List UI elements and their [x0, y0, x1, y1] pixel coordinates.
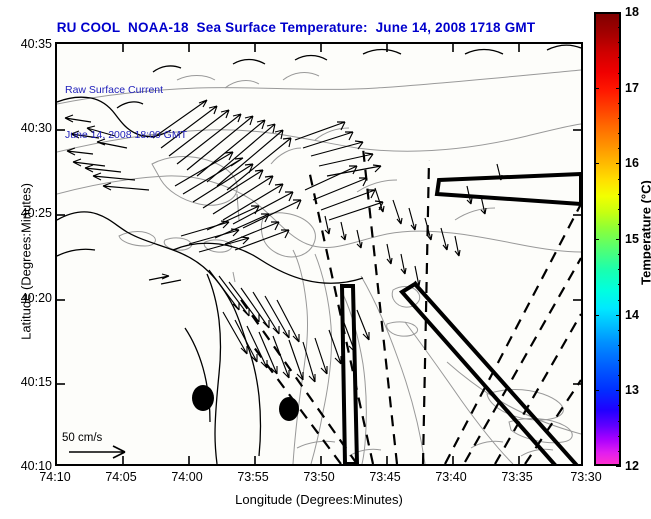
subtitle-line-2: June 14, 2008 18:00 GMT: [65, 128, 187, 143]
x-tick-label: 74:00: [171, 470, 202, 484]
colorbar-tick-label: 15: [625, 232, 639, 246]
survey-transect-boxes: [342, 174, 581, 464]
sst-map-figure: RU COOL NOAA-18 Sea Surface Temperature:…: [0, 0, 651, 519]
x-tick-label: 73:30: [570, 470, 601, 484]
colorbar-tick-label: 17: [625, 81, 639, 95]
vector-scale-label: 50 cm/s: [62, 432, 102, 444]
station-marker[interactable]: [279, 397, 299, 421]
colorbar-tick-label: 18: [625, 5, 639, 19]
x-tick-label: 73:45: [369, 470, 400, 484]
subtitle-line-1: Raw Surface Current: [65, 83, 187, 98]
station-marker[interactable]: [192, 385, 214, 411]
y-axis-title: Latitude (Degrees:Minutes): [19, 132, 34, 392]
x-tick-label: 73:35: [501, 470, 532, 484]
x-tick-label: 74:10: [39, 470, 70, 484]
x-tick-label: 73:40: [435, 470, 466, 484]
figure-title: RU COOL NOAA-18 Sea Surface Temperature:…: [0, 20, 592, 35]
map-plot-area[interactable]: Raw Surface Current June 14, 2008 18:00 …: [55, 42, 583, 466]
vector-scale-arrow: [69, 446, 125, 458]
x-axis-title: Longitude (Degrees:Minutes): [55, 492, 583, 507]
y-tick-label: 40:35: [21, 37, 52, 51]
colorbar-tick-label: 16: [625, 156, 639, 170]
x-tick-label: 74:05: [105, 470, 136, 484]
colorbar-tick-label: 14: [625, 308, 639, 322]
station-markers: [192, 385, 299, 421]
colorbar-tick-label: 12: [625, 459, 639, 473]
plot-subtitle: Raw Surface Current June 14, 2008 18:00 …: [65, 53, 187, 173]
colorbar-tick-label: 13: [625, 383, 639, 397]
temperature-colorbar[interactable]: [594, 12, 621, 466]
colorbar-title: Temperature (°C): [639, 143, 651, 323]
x-tick-label: 73:55: [237, 470, 268, 484]
x-tick-label: 73:50: [303, 470, 334, 484]
